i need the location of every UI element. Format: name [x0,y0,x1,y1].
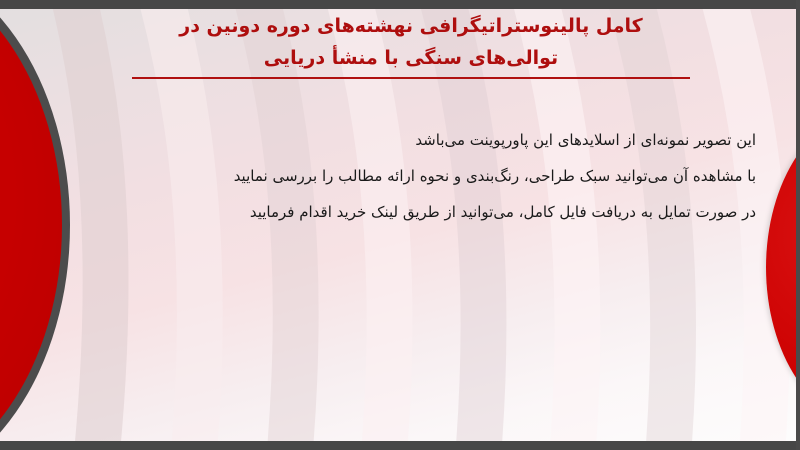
slide-frame-top [0,0,800,9]
slide-frame-right [796,0,800,450]
title-line-1: کامل پالینوستراتیگرافی نهشته‌های دوره دو… [130,10,692,42]
slide-title: کامل پالینوستراتیگرافی نهشته‌های دوره دو… [130,10,692,74]
slide-frame-bottom [0,441,800,450]
red-left-curve [0,0,70,450]
body-line-1: این تصویر نمونه‌ای از اسلایدهای این پاور… [96,122,756,158]
title-line-2: توالی‌های سنگی با منشأ دریایی [130,42,692,74]
body-line-3: در صورت تمایل به دریافت فایل کامل، می‌تو… [96,194,756,230]
title-underline-rule [132,77,690,79]
body-line-2: با مشاهده آن می‌توانید سبک طراحی، رنگ‌بن… [96,158,756,194]
slide-body-text: این تصویر نمونه‌ای از اسلایدهای این پاور… [96,122,756,230]
presentation-slide: کامل پالینوستراتیگرافی نهشته‌های دوره دو… [0,0,800,450]
